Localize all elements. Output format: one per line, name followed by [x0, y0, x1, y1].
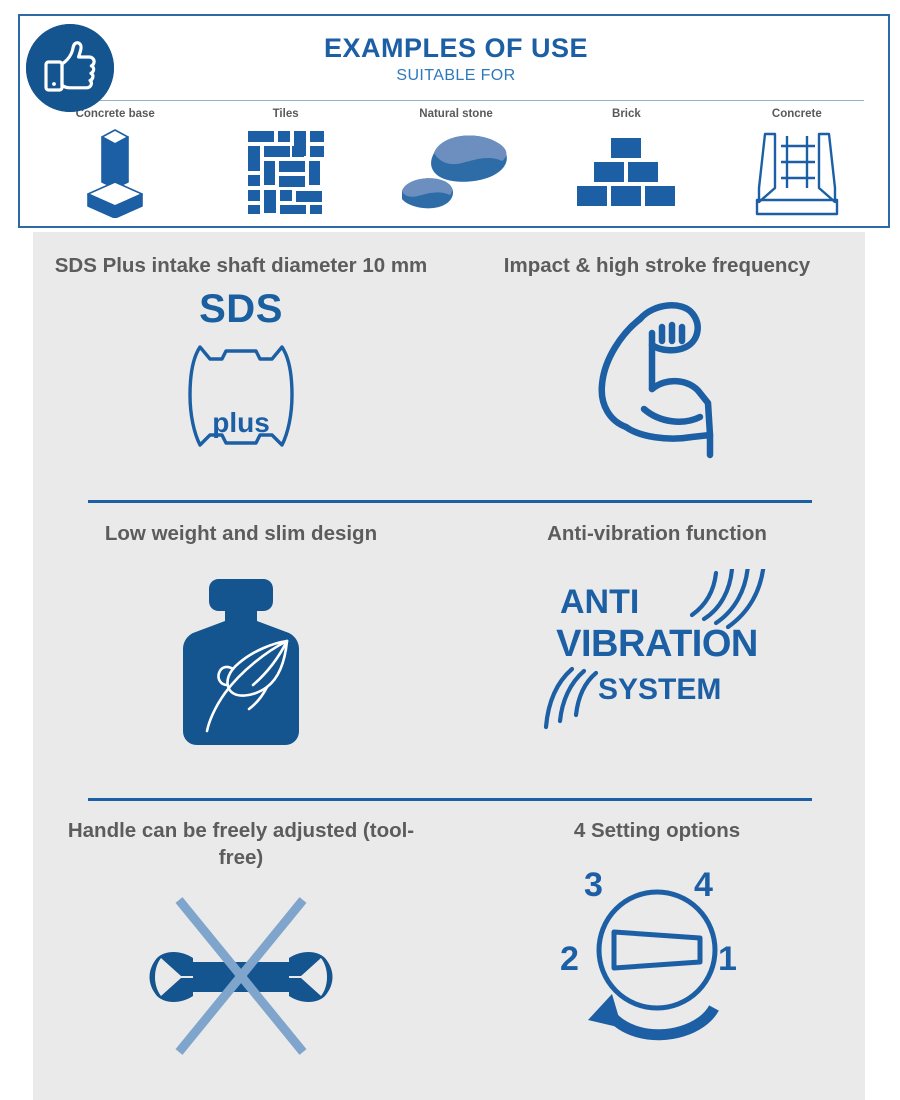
- flexed-bicep-icon: [449, 289, 865, 459]
- feature-title: Low weight and slim design: [33, 520, 449, 547]
- feature-anti-vibration: Anti-vibration function: [449, 520, 865, 790]
- feature-title: SDS Plus intake shaft diameter 10 mm: [33, 252, 449, 279]
- feature-title: 4 Setting options: [449, 817, 865, 844]
- material-item-concrete: Concrete: [712, 108, 882, 218]
- header-titles: EXAMPLES OF USE SUITABLE FOR: [20, 34, 892, 85]
- examples-of-use-card: EXAMPLES OF USE SUITABLE FOR Concrete ba…: [18, 14, 890, 228]
- material-label: Brick: [541, 108, 711, 120]
- avs-line-system: SYSTEM: [598, 675, 721, 705]
- sds-plus-logo-icon: SDS plus: [33, 289, 449, 469]
- crossed-out-wrench-icon: [33, 882, 449, 1062]
- feature-title: Handle can be freely adjusted (tool-free…: [33, 817, 449, 872]
- material-label: Tiles: [200, 108, 370, 120]
- page-subtitle: SUITABLE FOR: [20, 67, 892, 85]
- material-label: Concrete: [712, 108, 882, 120]
- material-item-tiles: Tiles: [200, 108, 370, 218]
- feature-row-2: Low weight and slim design Anti-vibratio…: [33, 520, 865, 790]
- feature-row-3: Handle can be freely adjusted (tool-free…: [33, 817, 865, 1097]
- avs-line-anti: ANTI: [560, 585, 639, 619]
- feature-low-weight-slim-design: Low weight and slim design: [33, 520, 449, 790]
- feature-row-1: SDS Plus intake shaft diameter 10 mm SDS…: [33, 252, 865, 510]
- avs-line-vibration: VIBRATION: [542, 625, 772, 663]
- section-divider-1: [88, 500, 812, 503]
- feature-impact-stroke-frequency: Impact & high stroke frequency: [449, 252, 865, 510]
- suitable-materials-row: Concrete base Tiles: [30, 108, 882, 218]
- concrete-pillar-icon: [30, 126, 200, 218]
- dial-number-4: 4: [694, 866, 713, 905]
- sds-plus-wordmark: plus: [156, 407, 326, 439]
- material-item-natural-stone: Natural stone: [371, 108, 541, 218]
- reinforced-concrete-icon: [712, 126, 882, 218]
- dial-number-3: 3: [584, 866, 603, 905]
- section-divider-2: [88, 798, 812, 801]
- feature-title: Impact & high stroke frequency: [449, 252, 865, 279]
- natural-stone-icon: [371, 126, 541, 218]
- feature-panel: SDS Plus intake shaft diameter 10 mm SDS…: [33, 232, 865, 1100]
- weight-feather-icon: [33, 557, 449, 751]
- material-item-concrete-base: Concrete base: [30, 108, 200, 218]
- header-divider: [48, 100, 864, 101]
- sds-wordmark: SDS: [156, 289, 326, 329]
- rotary-selector-dial-icon: 3 4 2 1: [449, 854, 865, 1052]
- feature-setting-options: 4 Setting options 3 4 2 1: [449, 817, 865, 1097]
- feature-sds-plus-shaft: SDS Plus intake shaft diameter 10 mm SDS…: [33, 252, 449, 510]
- feature-handle-tool-free: Handle can be freely adjusted (tool-free…: [33, 817, 449, 1097]
- brick-stack-icon: [541, 126, 711, 218]
- dial-number-2: 2: [560, 940, 579, 979]
- page-title: EXAMPLES OF USE: [20, 34, 892, 64]
- anti-vibration-system-icon: ANTI VIBRATION SYSTEM: [449, 557, 865, 729]
- thumbs-up-icon: [26, 24, 114, 112]
- feature-title: Anti-vibration function: [449, 520, 865, 547]
- material-item-brick: Brick: [541, 108, 711, 218]
- dial-number-1: 1: [718, 940, 737, 979]
- tiles-pattern-icon: [200, 126, 370, 218]
- material-label: Natural stone: [371, 108, 541, 120]
